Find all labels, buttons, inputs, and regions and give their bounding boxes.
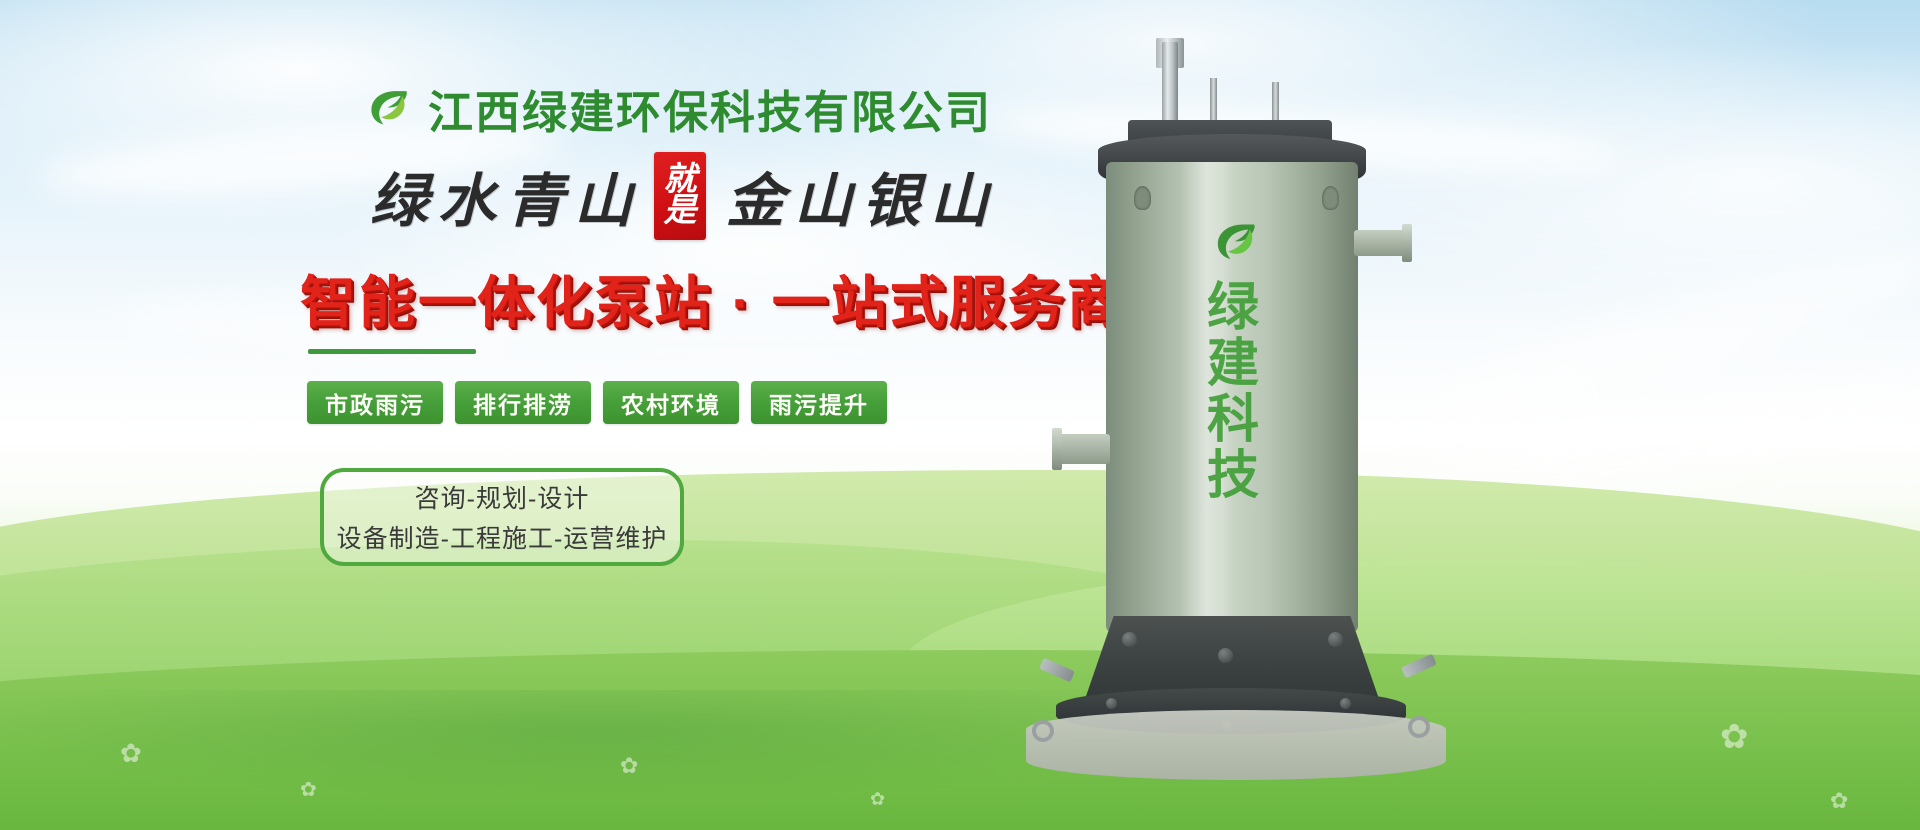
company-identity: 江西绿建环保科技有限公司	[360, 76, 992, 141]
concrete-pad	[1026, 710, 1446, 780]
company-name: 江西绿建环保科技有限公司	[428, 76, 992, 141]
tag-municipal-drainage[interactable]: 市政雨污	[307, 381, 443, 424]
lifting-shackle	[1408, 716, 1430, 738]
flower-sparkle-icon: ✿	[1830, 790, 1848, 812]
base-bolt	[1122, 632, 1137, 647]
flange-bolt	[1340, 698, 1351, 709]
tank-body	[1106, 162, 1358, 632]
seal-char-2: 是	[664, 196, 697, 227]
service-line-1: 咨询-规划-设计	[415, 479, 590, 515]
pump-station-product-image: 绿 建 科 技	[1010, 20, 1630, 830]
flower-sparkle-icon: ✿	[1720, 720, 1749, 754]
slogan-left: 绿水青山	[370, 154, 642, 238]
base-bolt	[1218, 648, 1233, 663]
outlet-nozzle-right	[1354, 230, 1406, 256]
tag-sewage-lifting[interactable]: 雨污提升	[751, 381, 887, 424]
green-leaf-swirl-icon	[360, 83, 412, 135]
service-line-2: 设备制造-工程施工-运营维护	[337, 519, 668, 555]
base-bolt	[1328, 632, 1343, 647]
anchor-bolt	[1401, 654, 1437, 679]
category-tag-list: 市政雨污 排行排涝 农村环境 雨污提升	[307, 381, 887, 424]
slogan-right: 金山银山	[726, 154, 998, 238]
red-seal-stamp: 就 是	[654, 152, 706, 240]
service-scope-box: 咨询-规划-设计 设备制造-工程施工-运营维护	[320, 468, 684, 566]
inlet-flange-left	[1052, 428, 1062, 470]
marketing-banner: ✿ ✿ ✿ ✿ ✿ ✿ 江西绿建环保科技有限公司 绿水青山 就 是 金山银山 智…	[0, 0, 1920, 830]
banner-content: 江西绿建环保科技有限公司 绿水青山 就 是 金山银山 智能一体化泵站 · 一站式…	[0, 0, 1100, 830]
lifting-shackle	[1032, 720, 1054, 742]
brand-slogan: 绿水青山 就 是 金山银山	[370, 152, 998, 240]
tag-drainage-flood[interactable]: 排行排涝	[455, 381, 591, 424]
page-title: 智能一体化泵站 · 一站式服务商	[300, 258, 1126, 339]
seal-char-1: 就	[664, 165, 697, 196]
tag-rural-environment[interactable]: 农村环境	[603, 381, 739, 424]
lifting-lug	[1322, 186, 1339, 210]
anchor-bolt	[1039, 658, 1075, 683]
green-divider	[308, 349, 476, 354]
inlet-nozzle-left	[1058, 434, 1110, 464]
lifting-lug	[1134, 186, 1151, 210]
outlet-flange-right	[1402, 224, 1412, 262]
flange-bolt	[1106, 698, 1117, 709]
